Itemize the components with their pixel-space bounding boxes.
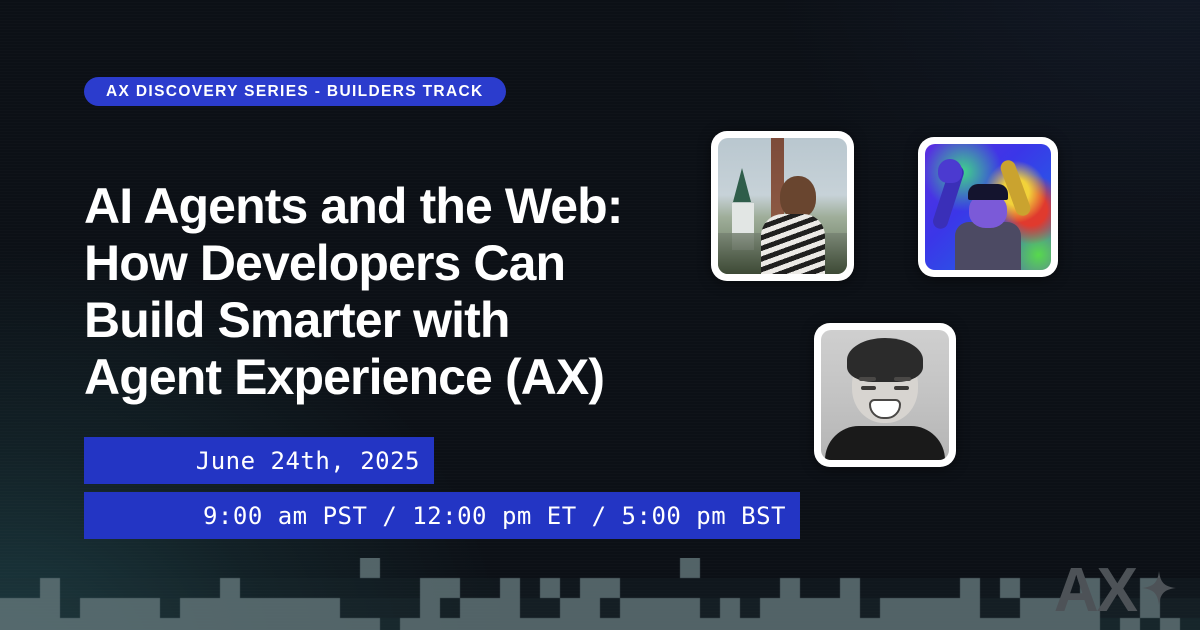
photo2-cap — [968, 184, 1008, 200]
pixel-decoration-strip — [0, 558, 1200, 630]
event-title-line-1: AI Agents and the Web: — [84, 178, 724, 235]
ax-logo-text: AX — [1054, 560, 1136, 622]
speaker-photo-1 — [711, 131, 854, 281]
event-title: AI Agents and the Web: How Developers Ca… — [84, 178, 724, 406]
photo3-left-brow — [859, 377, 876, 381]
photo1-church-spire — [733, 168, 751, 202]
photo3-shirt — [825, 426, 945, 460]
photo3-left-eye — [861, 386, 876, 390]
speaker-photo-1-image — [718, 138, 847, 274]
event-time-text: 9:00 am PST / 12:00 pm ET / 5:00 pm BST — [203, 502, 786, 530]
speaker-photo-2 — [918, 137, 1058, 277]
speaker-photo-3-image — [821, 330, 949, 460]
ax-logo: AX — [1054, 560, 1176, 622]
speaker-photo-2-image — [925, 144, 1051, 270]
event-date-text: June 24th, 2025 — [196, 447, 420, 475]
event-title-line-4: Agent Experience (AX) — [84, 349, 724, 406]
event-title-line-3: Build Smarter with — [84, 292, 724, 349]
photo3-hair — [847, 338, 923, 382]
pixel-decoration-canvas — [0, 558, 1200, 630]
speaker-photo-3 — [814, 323, 956, 467]
photo1-head — [780, 176, 816, 218]
photo1-striped-shirt — [761, 214, 825, 274]
series-badge-label: AX DISCOVERY SERIES - BUILDERS TRACK — [106, 83, 484, 101]
sparkle-icon — [1142, 571, 1176, 605]
event-time-bar: 9:00 am PST / 12:00 pm ET / 5:00 pm BST — [84, 492, 800, 539]
event-date-bar: June 24th, 2025 — [84, 437, 434, 484]
photo3-right-brow — [894, 377, 911, 381]
photo3-right-eye — [894, 386, 909, 390]
event-banner: AX DISCOVERY SERIES - BUILDERS TRACK AI … — [0, 0, 1200, 630]
series-badge: AX DISCOVERY SERIES - BUILDERS TRACK — [84, 77, 506, 106]
photo2-torso — [955, 222, 1021, 270]
photo2-left-hand — [938, 159, 962, 183]
event-title-line-2: How Developers Can — [84, 235, 724, 292]
